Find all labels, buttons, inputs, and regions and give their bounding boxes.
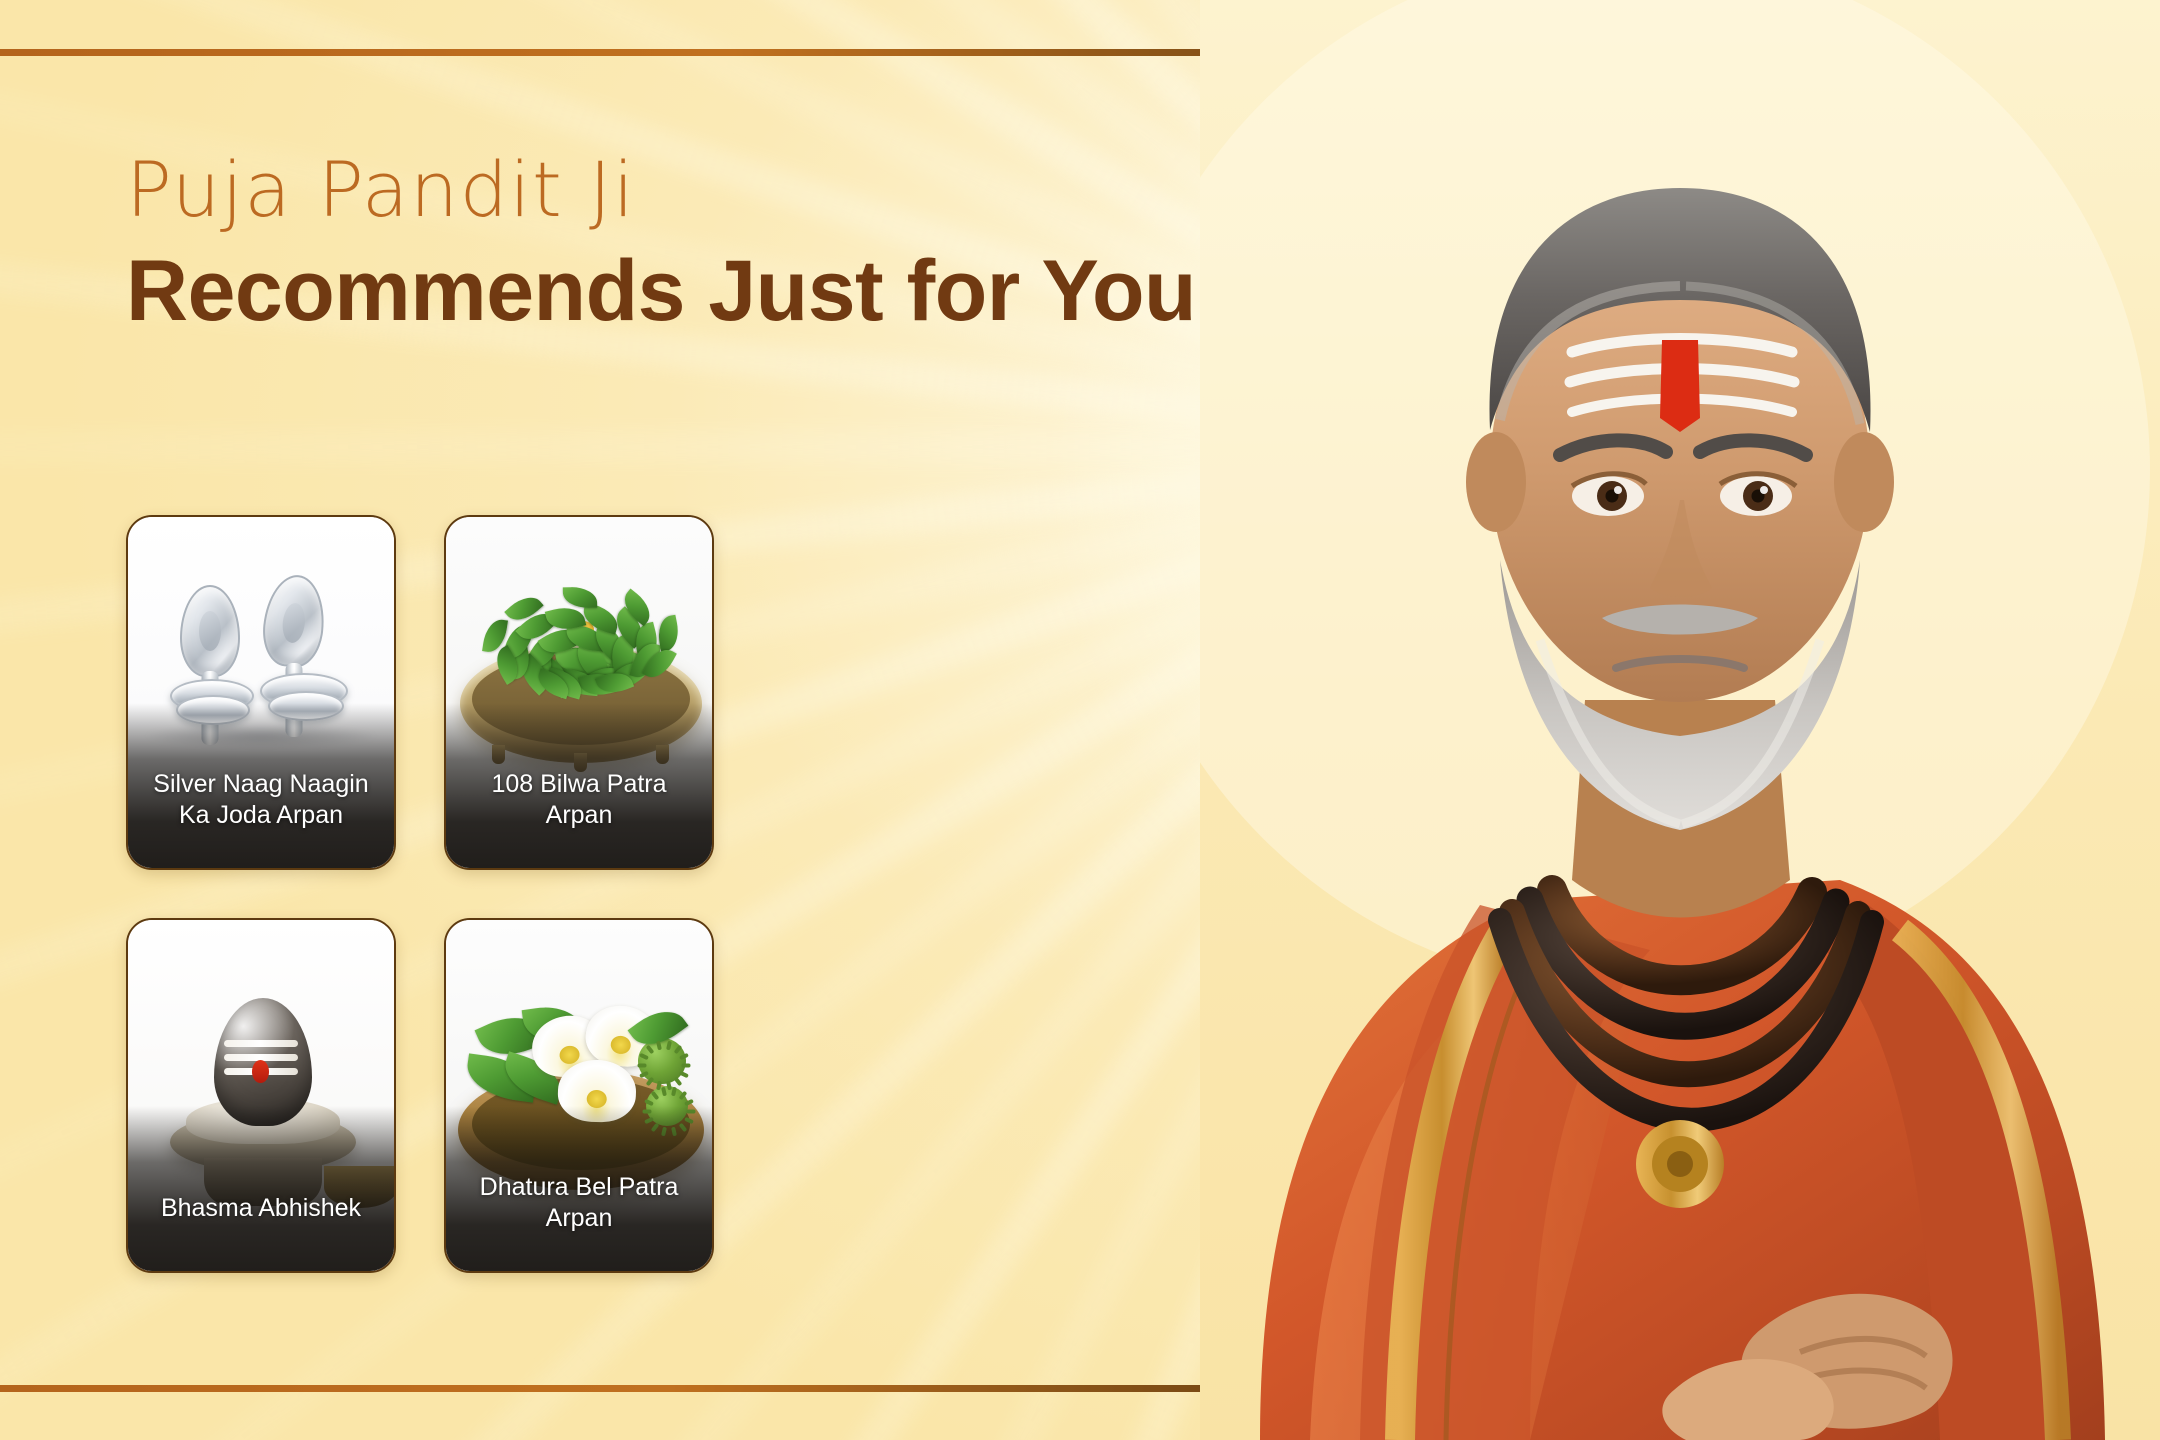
headline-line-2: Recommends Just for You (126, 243, 1196, 339)
puja-card-label-line-1: Silver Naag Naagin (136, 769, 386, 800)
puja-card-label-line-1: Dhatura Bel Patra (454, 1172, 704, 1203)
pandit-ji-photo (1200, 0, 2160, 1440)
pandit-ji-illustration (1200, 0, 2160, 1440)
puja-card-label-line-2: Arpan (454, 1203, 704, 1234)
puja-card-label-line-2: Ka Joda Arpan (136, 800, 386, 831)
dhatura-spike (679, 1071, 689, 1079)
headline-block: Puja Pandit Ji Recommends Just for You (126, 150, 1196, 339)
puja-card-label: Dhatura Bel Patra Arpan (454, 1172, 704, 1233)
puja-card-label-line-1: Bhasma Abhishek (136, 1193, 386, 1224)
dhatura-spike (638, 1064, 647, 1068)
divider-bottom (0, 1385, 1210, 1392)
dhatura-spike (673, 1077, 682, 1087)
puja-card-label: Bhasma Abhishek (136, 1193, 386, 1224)
puja-card-label-line-1: 108 Bilwa Patra (454, 769, 704, 800)
recommended-pujas-grid: Silver Naag Naagin Ka Joda Arpan 108 Bil… (126, 515, 714, 1273)
dhatura-spike (682, 1064, 691, 1068)
card-gradient-overlay (128, 1106, 394, 1271)
bilwa-leaf (563, 587, 598, 609)
puja-card-label: Silver Naag Naagin Ka Joda Arpan (136, 769, 386, 830)
divider-top (0, 49, 1330, 56)
headline-line-1: Puja Pandit Ji (126, 150, 1196, 229)
puja-card-label-line-2: Arpan (454, 800, 704, 831)
puja-card-bhasma-abhishek[interactable]: Bhasma Abhishek (126, 918, 396, 1273)
puja-card-108-bilwa-patra[interactable]: 108 Bilwa Patra Arpan (444, 515, 714, 870)
tilak-icon (1660, 340, 1700, 432)
promo-banner: Puja Pandit Ji Recommends Just for You (0, 0, 2160, 1440)
puja-card-dhatura-bel-patra[interactable]: Dhatura Bel Patra Arpan (444, 918, 714, 1273)
puja-card-label: 108 Bilwa Patra Arpan (454, 769, 704, 830)
puja-card-silver-naag-naagin[interactable]: Silver Naag Naagin Ka Joda Arpan (126, 515, 396, 870)
